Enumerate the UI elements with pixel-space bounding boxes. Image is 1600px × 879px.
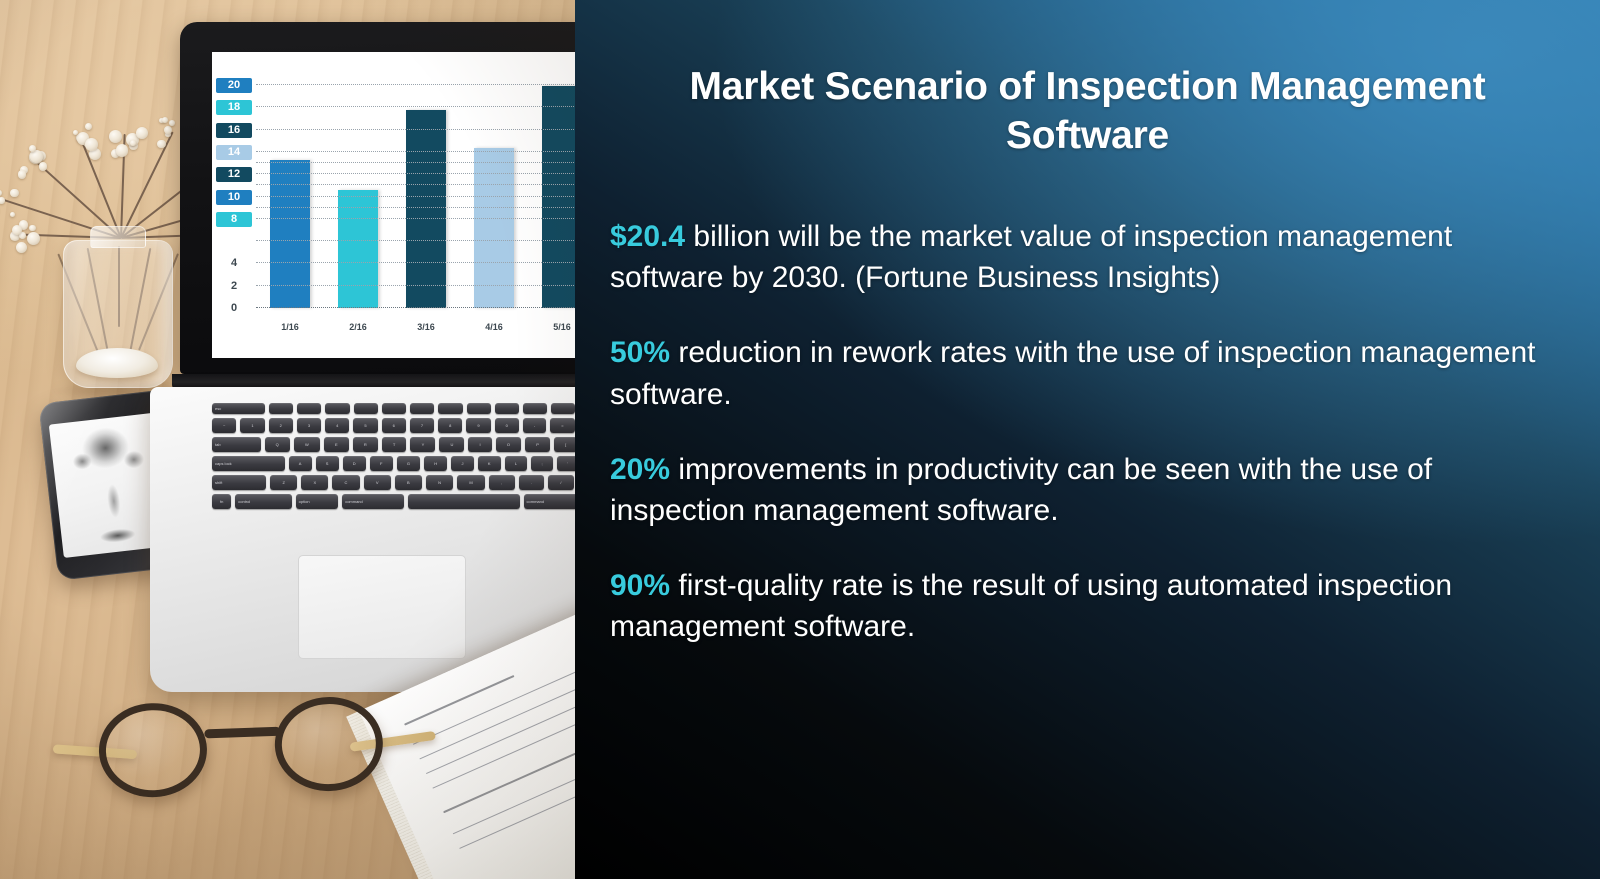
keyboard-key[interactable]: T [382,437,407,452]
vase-sand [76,348,158,378]
chart-bar-slot [528,74,575,308]
keyboard-key[interactable]: B [395,475,422,490]
book-text-line [419,687,575,759]
keyboard-key[interactable]: F [370,456,393,471]
keyboard-key[interactable]: N [426,475,453,490]
glasses-lens-left [97,701,208,799]
keyboard-key[interactable] [354,403,378,414]
flower-bud [0,190,2,196]
chart-y-tick: 0 [216,301,252,316]
content-panel: Market Scenario of Inspection Management… [575,0,1600,879]
chart-gridline [256,196,575,197]
flower-bud [73,130,78,135]
keyboard-key[interactable]: - [523,418,546,433]
keyboard-key[interactable]: 7 [410,418,434,433]
chart-gridline [256,218,575,219]
flower-bud [29,225,35,231]
keyboard-key[interactable]: caps lock [212,456,285,471]
chart-y-tick: 4 [216,256,252,271]
flower-bud [10,212,15,217]
chart-gridline [256,106,575,107]
chart-y-tick: 16 [216,123,252,138]
keyboard-key[interactable]: 5 [353,418,377,433]
keyboard-key[interactable]: S [316,456,339,471]
keyboard-key[interactable]: 2 [269,418,293,433]
keyboard-key[interactable]: ' [557,456,575,471]
stat-paragraph: 90% first-quality rate is the result of … [610,565,1540,647]
keyboard-key[interactable] [495,403,519,414]
vase-neck [90,226,146,248]
glasses-lens-right [273,695,384,793]
book-text-line [443,728,575,813]
keyboard-key[interactable] [269,403,293,414]
keyboard-key[interactable]: O [496,437,521,452]
laptop-screen: 1/162/163/164/165/16 2018161412108420 [212,52,575,358]
keyboard-key[interactable] [523,403,547,414]
keyboard-row: tabQWERTYUIOP[]\ [212,437,575,452]
desk-photo: 1/162/163/164/165/16 2018161412108420 es… [0,0,575,879]
keyboard-key[interactable]: C [332,475,359,490]
flower-bud [164,126,172,134]
chart-y-tick: 10 [216,190,252,205]
chart-gridline [256,184,575,185]
keyboard-key[interactable]: J [451,456,473,471]
keyboard-key[interactable]: ~ [212,418,236,433]
chart-gridline [256,173,575,174]
flower-bud [85,123,92,130]
keyboard-key[interactable]: E [324,437,349,452]
keyboard-key[interactable]: H [424,456,447,471]
chart-gridline [256,207,575,208]
chart-gridline [256,307,575,308]
keyboard-key[interactable]: M [457,475,485,490]
page-title: Market Scenario of Inspection Management… [643,62,1532,160]
keyboard-key[interactable]: command [342,494,404,509]
chart-bar [406,110,445,308]
chart-gridline [256,285,575,286]
keyboard-key[interactable]: W [294,437,320,452]
chart-bar-slot [392,74,460,308]
chart-plot-area [256,74,575,308]
keyboard-row: shiftZXCVBNM,./shift [212,475,575,490]
flower-bud [136,127,148,139]
keyboard-key[interactable]: 8 [438,418,462,433]
eyeglasses [93,685,397,815]
keyboard-key[interactable] [382,403,406,414]
keyboard-key[interactable]: K [478,456,501,471]
keyboard-key[interactable]: U [439,437,464,452]
laptop-trackpad[interactable] [298,555,466,659]
glasses-bridge [204,727,280,739]
stat-paragraph: $20.4 billion will be the market value o… [610,216,1540,298]
chart-bar [270,160,309,308]
stat-text: billion will be the market value of insp… [610,220,1452,294]
keyboard-key[interactable]: X [301,475,328,490]
keyboard-key[interactable]: 3 [297,418,321,433]
keyboard-row: caps lockASDFGHJKL;'return [212,456,575,471]
stat-value: 50% [610,336,670,369]
chart-bar [542,86,575,308]
keyboard-key[interactable]: 9 [466,418,490,433]
statistics-list: $20.4 billion will be the market value o… [610,216,1540,647]
keyboard-row: fncontroloptioncommandcommandoption [212,494,575,509]
keyboard-key[interactable]: V [364,475,391,490]
flower-bud [162,117,168,123]
chart-x-label: 3/16 [392,322,460,332]
keyboard-key[interactable]: control [235,494,291,509]
book-text-line [433,723,575,789]
flower-bud [27,232,40,245]
chart-bars [256,74,575,308]
chart-x-axis-labels: 1/162/163/164/165/16 [256,322,575,332]
slide: 1/162/163/164/165/16 2018161412108420 es… [0,0,1600,879]
flower-bud [109,130,123,144]
keyboard-row: esc [212,403,575,414]
stat-text: reduction in rework rates with the use o… [610,336,1536,410]
flower-bud [39,162,48,171]
keyboard-key[interactable]: fn [212,494,231,509]
keyboard-key[interactable]: L [505,456,528,471]
flower-bud [157,140,166,149]
keyboard-key[interactable]: D [343,456,366,471]
flower-bud [16,242,27,253]
keyboard-key[interactable] [467,403,491,414]
keyboard-key[interactable] [551,403,575,414]
keyboard-key[interactable]: tab [212,437,261,452]
keyboard-key[interactable]: , [489,475,515,490]
keyboard-key[interactable]: = [550,418,574,433]
chart-y-tick: 20 [216,78,252,93]
chart-gridline [256,84,575,85]
keyboard-key[interactable]: command [524,494,575,509]
stat-value: 90% [610,569,670,602]
keyboard-key[interactable]: ; [531,456,552,471]
keyboard-key[interactable] [297,403,321,414]
keyboard-key[interactable] [325,403,349,414]
chart-bar-slot [324,74,392,308]
flower-bud [12,225,22,235]
chart-x-label: 5/16 [528,322,575,332]
keyboard-key[interactable]: shift [212,475,266,490]
stat-paragraph: 50% reduction in rework rates with the u… [610,332,1540,414]
keyboard-key[interactable]: 6 [382,418,406,433]
keyboard-key[interactable] [410,403,434,414]
keyboard-key[interactable]: Z [270,475,297,490]
chart-gridline [256,240,575,241]
flower-stem [120,131,174,238]
keyboard-key[interactable]: 1 [240,418,264,433]
keyboard-key[interactable] [408,494,519,509]
chart-y-tick: 8 [216,212,252,227]
keyboard-key[interactable] [438,403,462,414]
keyboard-key[interactable]: I [468,437,491,452]
keyboard-key[interactable]: Q [265,437,290,452]
keyboard-key[interactable]: P [525,437,550,452]
chart-gridline [256,151,575,152]
chart-bar-slot [460,74,528,308]
chart-y-tick: 14 [216,145,252,160]
stat-value: 20% [610,453,670,486]
chart-gridline [256,129,575,130]
keyboard-key[interactable]: . [519,475,545,490]
keyboard-key[interactable]: G [397,456,420,471]
book-text-line [404,675,514,726]
keyboard-key[interactable]: R [353,437,378,452]
chart-x-label: 1/16 [256,322,324,332]
keyboard-key[interactable]: option [296,494,339,509]
flower-bud [116,144,129,157]
stat-text: first-quality rate is the result of usin… [610,569,1452,643]
stat-text: improvements in productivity can be seen… [610,453,1432,527]
chart-x-label: 2/16 [324,322,392,332]
flower-bud [0,197,5,203]
laptop-keyboard[interactable]: esc~1234567890-=deletetabQWERTYUIOP[]\ca… [212,403,575,513]
chart-y-tick: 18 [216,100,252,115]
stat-paragraph: 20% improvements in productivity can be … [610,449,1540,531]
chart-gridline [256,262,575,263]
keyboard-key[interactable]: Y [410,437,435,452]
keyboard-key[interactable]: esc [212,403,265,414]
keyboard-key[interactable]: 4 [325,418,349,433]
keyboard-key[interactable]: 0 [495,418,519,433]
chart-x-label: 4/16 [460,322,528,332]
flower-bud [10,189,19,198]
chart-gridline [256,162,575,163]
laptop-lid: 1/162/163/164/165/16 2018161412108420 [180,22,575,374]
bar-chart: 1/162/163/164/165/16 2018161412108420 [212,52,575,358]
flower-bud [18,170,26,178]
stat-value: $20.4 [610,220,685,253]
keyboard-row: ~1234567890-=delete [212,418,575,433]
keyboard-key[interactable]: A [289,456,312,471]
keyboard-key[interactable]: / [548,475,574,490]
chart-y-tick: 2 [216,279,252,294]
keyboard-key[interactable]: [ [554,437,575,452]
chart-bar-slot [256,74,324,308]
chart-y-tick: 12 [216,167,252,182]
book-text-line [413,667,575,745]
flower-bud [169,120,175,126]
